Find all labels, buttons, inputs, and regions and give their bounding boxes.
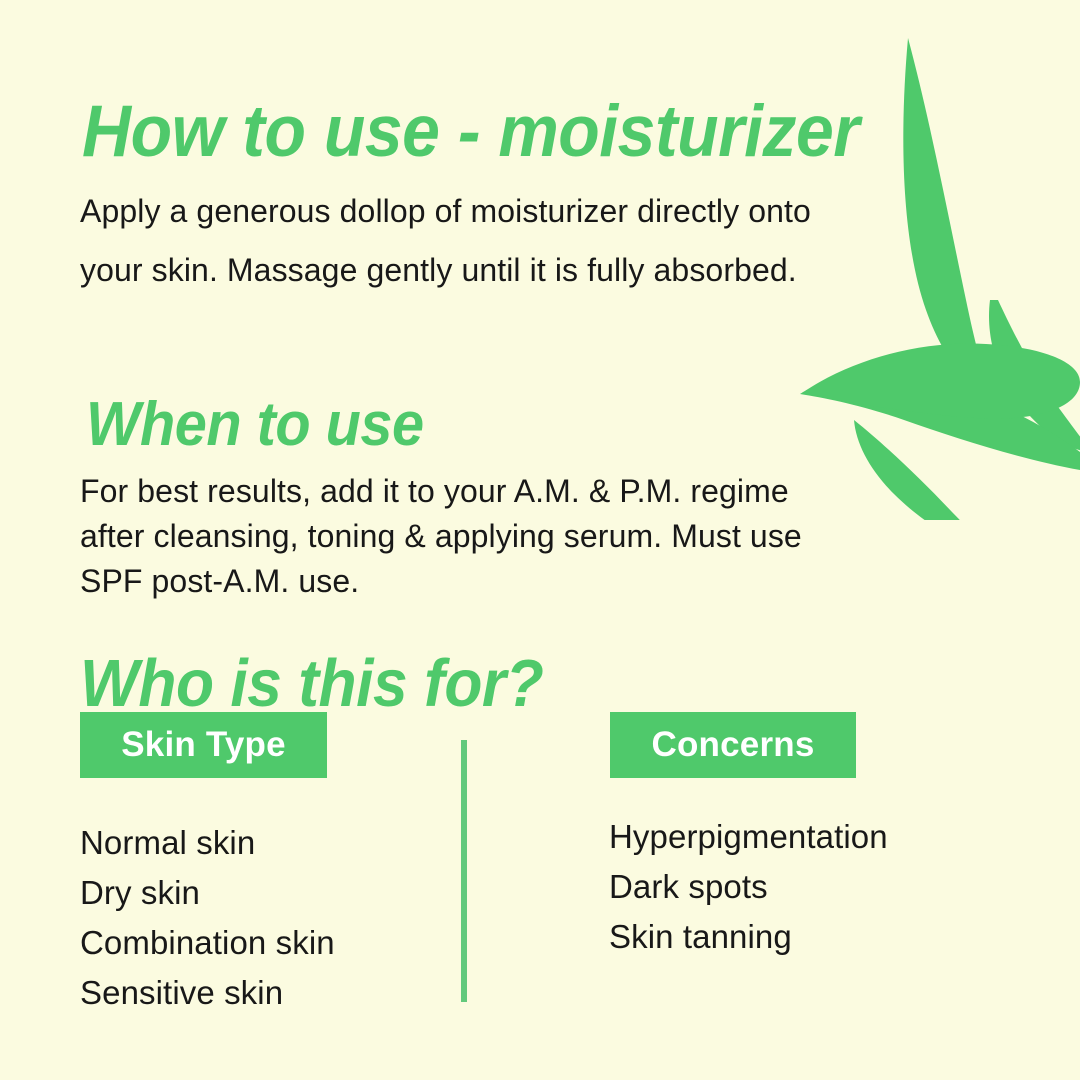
list-item: Hyperpigmentation [609, 812, 888, 862]
page-title: How to use - moisturizer [82, 95, 859, 168]
concerns-list: Hyperpigmentation Dark spots Skin tannin… [609, 812, 888, 962]
concerns-badge: Concerns [610, 712, 856, 778]
column-divider [461, 740, 467, 1002]
when-to-use-heading: When to use [86, 394, 424, 456]
infographic-canvas: How to use - moisturizer Apply a generou… [0, 0, 1080, 1080]
list-item: Normal skin [80, 818, 335, 868]
when-to-use-body-text: For best results, add it to your A.M. & … [80, 469, 840, 604]
list-item: Sensitive skin [80, 968, 335, 1018]
skin-type-badge: Skin Type [80, 712, 327, 778]
how-to-use-body-text: Apply a generous dollop of moisturizer d… [80, 182, 840, 300]
who-is-this-for-heading: Who is this for? [80, 650, 543, 717]
list-item: Skin tanning [609, 912, 888, 962]
skin-type-list: Normal skin Dry skin Combination skin Se… [80, 818, 335, 1018]
list-item: Dark spots [609, 862, 888, 912]
list-item: Combination skin [80, 918, 335, 968]
list-item: Dry skin [80, 868, 335, 918]
